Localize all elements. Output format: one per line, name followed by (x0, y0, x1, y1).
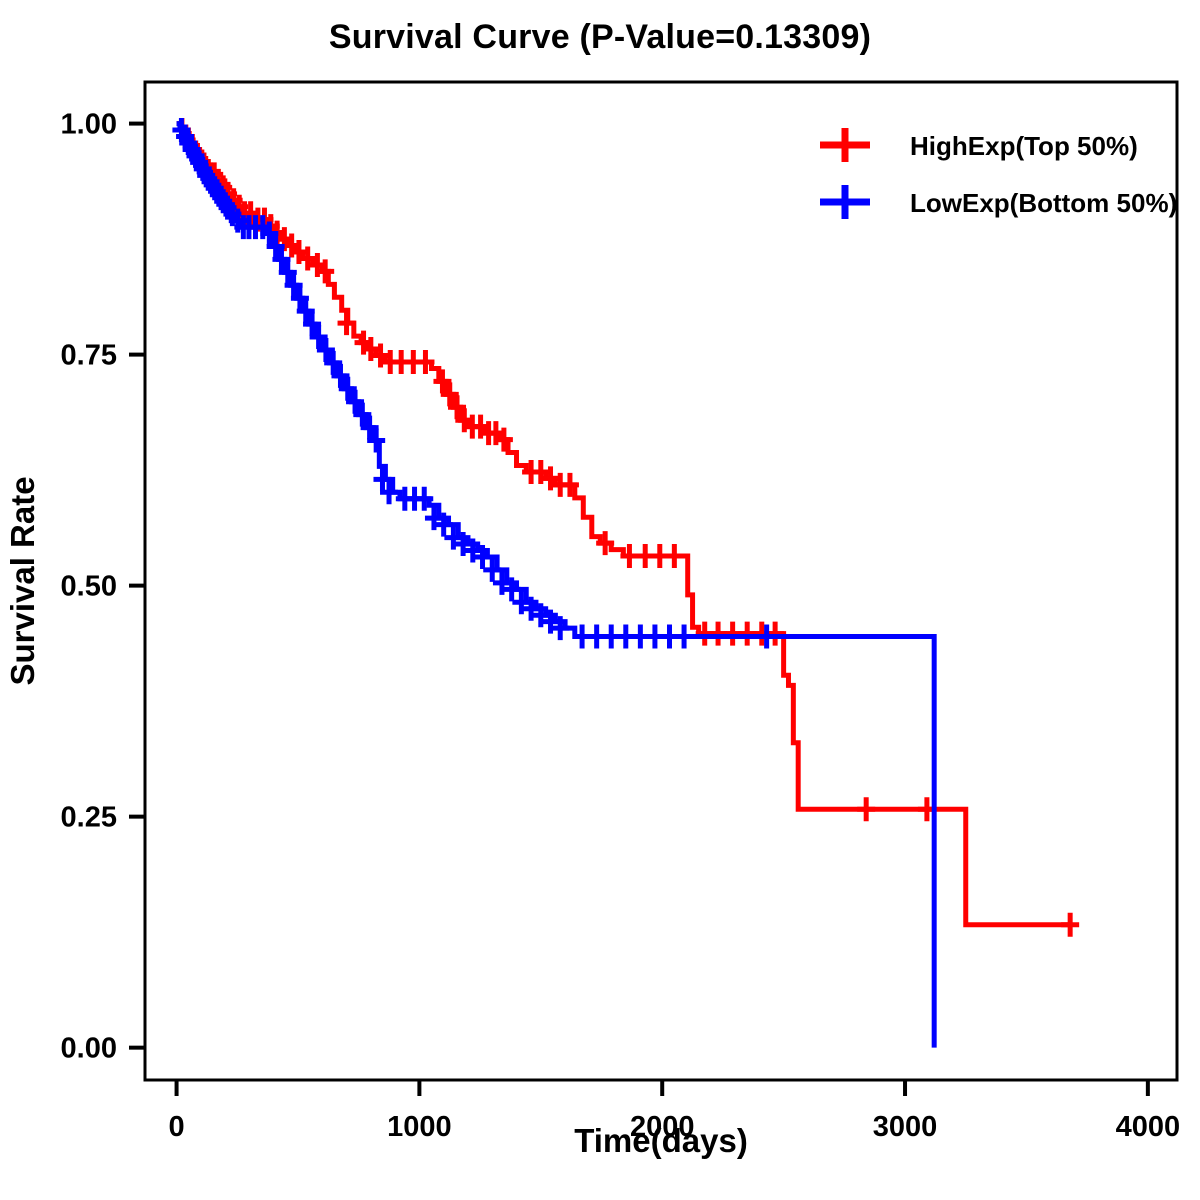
plot-border (145, 82, 1177, 1080)
x-axis-title: Time(days) (574, 1122, 748, 1159)
censor-mark (1061, 913, 1079, 937)
censor-mark (857, 797, 875, 821)
series-layer (172, 118, 1079, 1048)
survival-chart-page: Survival Curve (P-Value=0.13309) 0100020… (0, 0, 1200, 1200)
survival-plot: 01000200030004000 0.000.250.500.751.00 H… (0, 0, 1200, 1200)
plus-marker-icon (820, 128, 870, 162)
plus-marker-icon (820, 185, 870, 219)
y-axis-title: Survival Rate (4, 476, 41, 685)
plot-frame (145, 82, 1177, 1080)
x-tick-label: 0 (168, 1111, 184, 1143)
y-tick-label: 0.00 (61, 1033, 117, 1065)
y-axis-ticks: 0.000.250.500.751.00 (61, 109, 145, 1065)
x-tick-label: 1000 (387, 1111, 452, 1143)
x-tick-label: 4000 (1116, 1111, 1181, 1143)
legend-label[interactable]: HighExp(Top 50%) (910, 131, 1138, 161)
y-tick-label: 0.25 (61, 802, 117, 834)
y-tick-label: 1.00 (61, 109, 117, 141)
series-high-exp (173, 118, 1079, 937)
censor-mark (665, 544, 683, 568)
x-tick-label: 3000 (873, 1111, 938, 1143)
chart-legend: HighExp(Top 50%)LowExp(Bottom 50%) (820, 128, 1177, 219)
legend-label[interactable]: LowExp(Bottom 50%) (910, 188, 1177, 218)
y-tick-label: 0.75 (61, 340, 117, 372)
series-low-exp (172, 118, 934, 1048)
y-tick-label: 0.50 (61, 571, 117, 603)
